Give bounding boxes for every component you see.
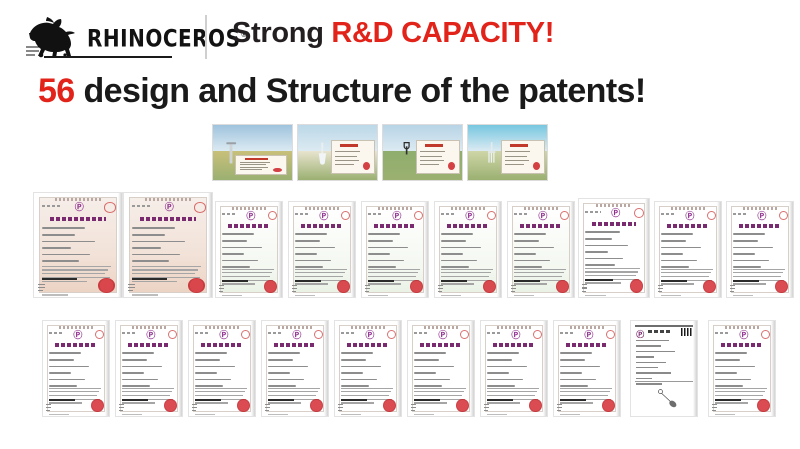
certificate-signature [271, 403, 288, 412]
spec-tool-drawing-icon [656, 386, 678, 411]
certificate-number [441, 213, 456, 215]
official-red-seal-icon [237, 399, 250, 412]
certificate-fields [268, 352, 322, 390]
spec-emblem-icon: Ⓟ [636, 329, 642, 338]
patent-certificate-row-2: Ⓟ Ⓟ Ⓟ Ⓟ Ⓟ Ⓟ Ⓟ Ⓟ ⓅⓅ [0, 313, 800, 417]
certificate-signature [490, 403, 507, 412]
certificate-footer-rule [341, 414, 361, 416]
certificate-side-note [38, 284, 45, 292]
patent-cert-18: Ⓟ [553, 320, 621, 417]
certificate-fields [585, 231, 642, 270]
certificate-title [566, 343, 608, 347]
certificate-top-ornament [278, 326, 312, 329]
certificate-side-note [119, 404, 124, 412]
scan-edge-shadow [645, 199, 649, 297]
certificate-number [514, 213, 529, 215]
certificate-top-ornament [497, 326, 531, 329]
scan-edge-shadow [208, 193, 212, 297]
certificate-signature [517, 284, 534, 293]
certificate-footer-rule [42, 294, 68, 296]
certificate-footer-rule [295, 295, 315, 297]
certificate-side-note [219, 285, 224, 293]
scan-edge-shadow [470, 321, 474, 416]
national-emblem-icon: Ⓟ [292, 331, 299, 342]
certificate-number [585, 211, 600, 213]
photo-cert-line [505, 151, 530, 152]
certificate-side-note [46, 404, 51, 412]
scan-edge-shadow [105, 321, 109, 416]
photo-cert-line [240, 162, 270, 163]
certificate-signature [225, 284, 242, 293]
certificate-signature [198, 403, 215, 412]
patent-cert-14: Ⓟ [261, 320, 329, 417]
spec-header-rule [635, 325, 693, 327]
photo-cert-line [240, 169, 262, 170]
certificate-signature [563, 403, 580, 412]
certificate-signature-rule [441, 280, 467, 282]
certificate-number [122, 332, 137, 334]
certificate-footer-rule [49, 414, 69, 416]
scan-edge-shadow [324, 321, 328, 416]
certificate-signature-rule [132, 278, 167, 280]
certificate-round-stamp-icon [634, 208, 644, 218]
certificate-signature-rule [661, 280, 687, 282]
certificate-side-note [128, 284, 135, 292]
official-red-seal-icon [483, 280, 496, 293]
certificate-footer-rule [122, 414, 142, 416]
national-emblem-icon: Ⓟ [246, 212, 253, 223]
headline-secondary-rest: design and Structure of the patents! [75, 72, 646, 110]
certificate-signature-rule [715, 399, 741, 401]
certificate-title [739, 224, 781, 228]
product-photo-fork [467, 124, 548, 181]
certificate-signature [589, 283, 607, 292]
certificate-signature [298, 284, 315, 293]
certificate-number [487, 332, 502, 334]
certificate-signature [52, 403, 69, 412]
certificate-top-ornament [671, 207, 705, 210]
certificate-side-note [265, 404, 270, 412]
certificate-footer-rule [222, 295, 242, 297]
certificate-fields [49, 352, 103, 390]
certificate-number [560, 332, 575, 334]
certificate-title [493, 343, 535, 347]
national-emblem-icon: Ⓟ [392, 212, 399, 223]
certificate-title [50, 217, 106, 221]
certificate-round-stamp-icon [194, 202, 206, 212]
patent-cert-13: Ⓟ [188, 320, 256, 417]
certificate-signature-rule [733, 280, 759, 282]
certificate-title [301, 224, 343, 228]
photo-certificate-overlay [501, 140, 544, 174]
certificate-title [447, 224, 489, 228]
brand-logo: RHINOCEROS® [24, 13, 199, 59]
patent-spec-drawing-19: Ⓟ [630, 320, 698, 417]
national-emblem-icon: Ⓟ [511, 331, 518, 342]
certificate-fields [368, 233, 422, 271]
certificate-fields [733, 233, 787, 271]
photo-cert-line [420, 156, 442, 157]
certificate-footer-rule [132, 294, 158, 296]
certificate-fields [715, 352, 769, 390]
official-red-seal-icon [91, 399, 104, 412]
scan-edge-shadow [251, 321, 255, 416]
certificate-number [295, 213, 310, 215]
header-divider [205, 15, 207, 59]
certificate-signature [718, 403, 735, 412]
certificate-signature-rule [585, 279, 613, 281]
scan-edge-shadow [397, 321, 401, 416]
photo-cert-title [340, 144, 359, 147]
patent-count: 56 [38, 72, 75, 110]
certificate-title [228, 224, 270, 228]
official-red-seal-icon [164, 399, 177, 412]
certificate-footer-rule [661, 295, 681, 297]
national-emblem-icon: Ⓟ [685, 212, 692, 223]
certificate-top-ornament [59, 326, 93, 329]
certificate-signature-rule [514, 280, 540, 282]
certificate-title [520, 224, 562, 228]
rhinoceros-logo-icon [24, 14, 86, 58]
certificate-signature-rule [368, 280, 394, 282]
national-emblem-icon: Ⓟ [73, 331, 80, 342]
scan-edge-shadow [789, 202, 793, 297]
certificate-title [374, 224, 416, 228]
poster-header: RHINOCEROS® Strong R&D CAPACITY! [0, 0, 800, 70]
scan-edge-shadow [278, 202, 282, 297]
official-red-seal-icon [703, 280, 716, 293]
certificate-top-ornament [305, 207, 339, 210]
headline-primary-dark: Strong [232, 17, 331, 49]
certificate-signature-rule [268, 399, 294, 401]
national-emblem-icon: Ⓟ [611, 209, 619, 221]
certificate-top-ornament [424, 326, 458, 329]
certificate-signature [736, 284, 753, 293]
official-red-seal-icon [556, 280, 569, 293]
scan-edge-shadow [497, 202, 501, 297]
patent-cert-7: Ⓟ [507, 201, 575, 298]
national-emblem-icon: Ⓟ [74, 203, 84, 215]
patent-cert-5: Ⓟ [361, 201, 429, 298]
certificate-fields [122, 352, 176, 390]
certificate-side-note [658, 285, 663, 293]
certificate-title [420, 343, 462, 347]
certificate-signature [344, 403, 361, 412]
photo-cert-title [425, 144, 444, 147]
certificate-top-ornament [145, 198, 191, 201]
certificate-side-note [582, 284, 588, 292]
photo-cert-seal [363, 162, 370, 170]
certificate-side-note [192, 404, 197, 412]
certificate-footer-rule [268, 414, 288, 416]
patent-cert-3: Ⓟ [215, 201, 283, 298]
certificate-side-note [712, 404, 717, 412]
national-emblem-icon: Ⓟ [219, 331, 226, 342]
national-emblem-icon: Ⓟ [538, 212, 545, 223]
product-photo-spade [382, 124, 463, 181]
certificate-title [721, 343, 763, 347]
patent-cert-11: Ⓟ [42, 320, 110, 417]
headline-primary-red: R&D CAPACITY! [331, 17, 554, 49]
certificate-title [55, 343, 97, 347]
certificate-footer-rule [195, 414, 215, 416]
certificate-fields [341, 352, 395, 390]
certificate-top-ornament [524, 207, 558, 210]
certificate-footer-rule [715, 414, 735, 416]
certificate-side-note [730, 285, 735, 293]
national-emblem-icon: Ⓟ [465, 212, 472, 223]
certificate-title [201, 343, 243, 347]
photo-cert-seal [448, 162, 455, 170]
photo-cert-line [420, 164, 438, 165]
certificate-top-ornament [232, 207, 266, 210]
national-emblem-icon: Ⓟ [146, 331, 153, 342]
product-photo-post-hole-tool [212, 124, 293, 181]
certificate-top-ornament [132, 326, 166, 329]
photo-cert-line [335, 160, 358, 161]
certificate-footer-rule [487, 414, 507, 416]
certificate-number [341, 332, 356, 334]
national-emblem-icon: Ⓟ [365, 331, 372, 342]
certificate-fields [132, 227, 204, 269]
photo-cert-title [245, 158, 268, 161]
national-emblem-icon: Ⓟ [739, 331, 746, 342]
certificate-footer-rule [733, 295, 753, 297]
certificate-fields [222, 233, 276, 271]
official-red-seal-icon [383, 399, 396, 412]
product-photo-shovel [297, 124, 378, 181]
scan-edge-shadow [118, 193, 122, 297]
scan-edge-shadow [717, 202, 721, 297]
certificate-signature [371, 284, 388, 293]
certificate-signature [417, 403, 434, 412]
certificate-top-ornament [205, 326, 239, 329]
photo-cert-line [335, 164, 353, 165]
certificate-side-note [484, 404, 489, 412]
national-emblem-icon: Ⓟ [164, 203, 174, 215]
certificate-signature-rule [42, 278, 77, 280]
photo-cert-line [505, 156, 527, 157]
patent-certificate-row-1: Ⓟ Ⓟ Ⓟ Ⓟ Ⓟ Ⓟ Ⓟ Ⓟ Ⓟ Ⓟ [0, 190, 800, 298]
certificate-footer-rule [560, 414, 580, 416]
scan-edge-shadow [570, 202, 574, 297]
certificate-signature [664, 284, 681, 293]
patent-cert-6: Ⓟ [434, 201, 502, 298]
certificate-side-note [338, 404, 343, 412]
official-red-seal-icon [757, 399, 770, 412]
official-red-seal-icon [337, 280, 350, 293]
brand-wordmark: RHINOCEROS® [87, 26, 248, 50]
official-red-seal-icon [188, 278, 205, 293]
certificate-top-ornament [570, 326, 604, 329]
patent-cert-2: Ⓟ [123, 192, 213, 298]
certificate-signature-rule [295, 280, 321, 282]
official-red-seal-icon [529, 399, 542, 412]
product-photo-row [212, 124, 548, 181]
certificate-signature-rule [341, 399, 367, 401]
photo-cert-seal [273, 168, 282, 173]
certificate-top-ornament [596, 204, 632, 207]
poster-canvas: RHINOCEROS® Strong R&D CAPACITY! 56 desi… [0, 0, 800, 449]
scan-edge-shadow [424, 202, 428, 297]
photo-cert-title [510, 144, 529, 147]
national-emblem-icon: Ⓟ [438, 331, 445, 342]
certificate-title [140, 217, 196, 221]
photo-certificate-overlay [235, 155, 287, 175]
certificate-footer-rule [368, 295, 388, 297]
certificate-title [667, 224, 709, 228]
certificate-number [42, 205, 61, 207]
certificate-signature-rule [49, 399, 75, 401]
certificate-number [132, 205, 151, 207]
patent-cert-9: Ⓟ [654, 201, 722, 298]
certificate-title [592, 222, 637, 226]
photo-cert-line [335, 156, 357, 157]
official-red-seal-icon [602, 399, 615, 412]
photo-cert-line [420, 160, 443, 161]
certificate-signature [125, 403, 142, 412]
national-emblem-icon: Ⓟ [584, 331, 591, 342]
certificate-signature-rule [195, 399, 221, 401]
spec-body-text [636, 340, 682, 376]
photo-cert-line [505, 164, 523, 165]
spec-barcode-icon [681, 328, 692, 337]
photo-cert-seal [533, 162, 540, 170]
patent-cert-12: Ⓟ [115, 320, 183, 417]
certificate-number [368, 213, 383, 215]
certificate-number [49, 332, 64, 334]
certificate-footer-rule [414, 414, 434, 416]
certificate-side-note [438, 285, 443, 293]
patent-cert-16: Ⓟ [407, 320, 475, 417]
certificate-fields [414, 352, 468, 390]
certificate-side-note [557, 404, 562, 412]
national-emblem-icon: Ⓟ [757, 212, 764, 223]
certificate-top-ornament [725, 326, 759, 329]
certificate-number [661, 213, 676, 215]
certificate-fields [42, 227, 114, 269]
scan-edge-shadow [616, 321, 620, 416]
certificate-title [347, 343, 389, 347]
certificate-signature [136, 282, 159, 291]
official-red-seal-icon [98, 278, 115, 293]
certificate-top-ornament [378, 207, 412, 210]
headline-primary: Strong R&D CAPACITY! [232, 19, 554, 48]
official-red-seal-icon [410, 280, 423, 293]
official-red-seal-icon [456, 399, 469, 412]
patent-cert-8: Ⓟ [578, 198, 650, 298]
certificate-signature-rule [122, 399, 148, 401]
photo-cert-line [420, 151, 445, 152]
certificate-side-note [511, 285, 516, 293]
certificate-fields [487, 352, 541, 390]
certificate-number [222, 213, 237, 215]
official-red-seal-icon [775, 280, 788, 293]
certificate-footer-rule [514, 295, 534, 297]
certificate-side-note [292, 285, 297, 293]
certificate-top-ornament [451, 207, 485, 210]
certificate-signature-rule [222, 280, 248, 282]
official-red-seal-icon [310, 399, 323, 412]
photo-cert-line [335, 151, 360, 152]
certificate-signature-rule [560, 399, 586, 401]
photo-certificate-overlay [416, 140, 459, 174]
certificate-signature [444, 284, 461, 293]
certificate-fields [441, 233, 495, 271]
patent-cert-17: Ⓟ [480, 320, 548, 417]
certificate-side-note [365, 285, 370, 293]
certificate-number [733, 213, 748, 215]
certificate-fields [560, 352, 614, 390]
certificate-fields [514, 233, 568, 271]
certificate-fields [661, 233, 715, 271]
certificate-number [414, 332, 429, 334]
certificate-top-ornament [351, 326, 385, 329]
certificate-number [268, 332, 283, 334]
certificate-footer-rule [585, 295, 606, 297]
certificate-round-stamp-icon [104, 202, 116, 212]
spec-divider [635, 381, 693, 382]
certificate-signature [46, 282, 69, 291]
spec-title [648, 330, 670, 333]
photo-certificate-overlay [331, 140, 374, 174]
certificate-top-ornament [743, 207, 777, 210]
scan-edge-shadow [693, 321, 697, 416]
certificate-title [128, 343, 170, 347]
certificate-signature-rule [414, 399, 440, 401]
photo-cert-line [505, 160, 528, 161]
patent-cert-4: Ⓟ [288, 201, 356, 298]
patent-cert-15: Ⓟ [334, 320, 402, 417]
certificate-fields [195, 352, 249, 390]
certificate-footer-rule [441, 295, 461, 297]
certificate-number [195, 332, 210, 334]
scan-edge-shadow [543, 321, 547, 416]
certificate-title [274, 343, 316, 347]
scan-edge-shadow [351, 202, 355, 297]
certificate-number [715, 332, 730, 334]
patent-cert-1: Ⓟ [33, 192, 123, 298]
certificate-side-note [411, 404, 416, 412]
certificate-top-ornament [55, 198, 101, 201]
scan-edge-shadow [178, 321, 182, 416]
photo-cert-line [240, 164, 266, 165]
photo-cert-line [240, 167, 268, 168]
official-red-seal-icon [264, 280, 277, 293]
headline-secondary: 56 design and Structure of the patents! [38, 74, 646, 108]
certificate-signature-rule [487, 399, 513, 401]
scan-edge-shadow [771, 321, 775, 416]
national-emblem-icon: Ⓟ [319, 212, 326, 223]
certificate-fields [295, 233, 349, 271]
logo-underline [44, 56, 172, 58]
patent-cert-10: Ⓟ [726, 201, 794, 298]
patent-cert-20: Ⓟ [708, 320, 776, 417]
